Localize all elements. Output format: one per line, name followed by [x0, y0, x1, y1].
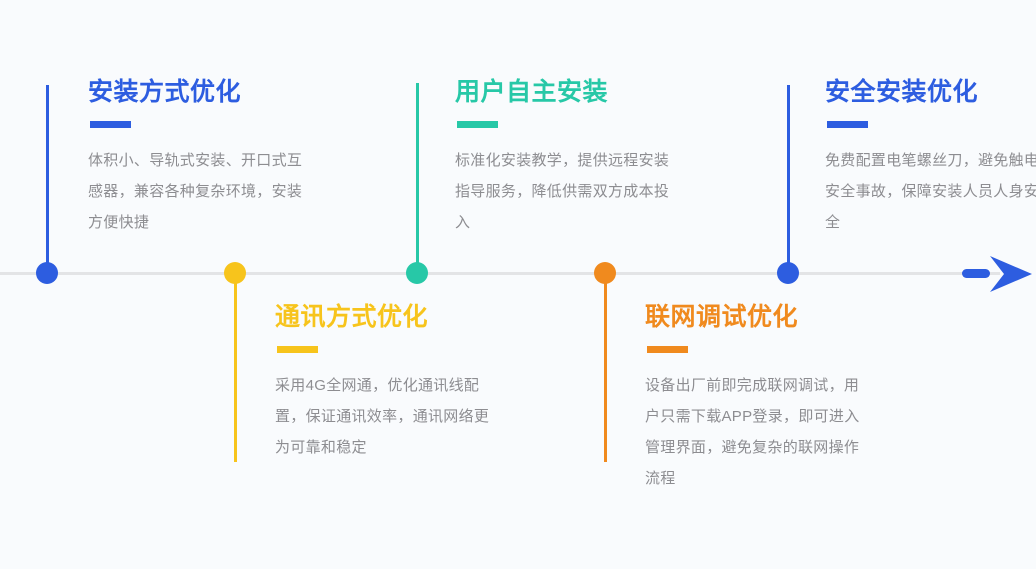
- timeline-stem-5: [787, 85, 790, 273]
- card-body-5: 免费配置电笔螺丝刀，避免触电安全事故，保障安装人员人身安全: [825, 145, 1036, 238]
- card-title-2: 通讯方式优化: [275, 303, 490, 332]
- timeline-marker-2[interactable]: [224, 262, 246, 284]
- card-body-3: 标准化安装教学，提供远程安装指导服务，降低供需双方成本投入: [455, 145, 670, 238]
- timeline-axis: [0, 272, 1000, 275]
- timeline-card-5: 安全安装优化 免费配置电笔螺丝刀，避免触电安全事故，保障安装人员人身安全: [825, 78, 1036, 238]
- timeline-card-2: 通讯方式优化 采用4G全网通，优化通讯线配置，保证通讯效率，通讯网络更为可靠和稳…: [275, 303, 490, 463]
- timeline-stem-4: [604, 272, 607, 462]
- card-body-1: 体积小、导轨式安装、开口式互感器，兼容各种复杂环境，安装方便快捷: [88, 145, 303, 238]
- card-body-2: 采用4G全网通，优化通讯线配置，保证通讯效率，通讯网络更为可靠和稳定: [275, 370, 490, 463]
- timeline-marker-3[interactable]: [406, 262, 428, 284]
- card-title-3: 用户自主安装: [455, 78, 670, 107]
- card-title-1: 安装方式优化: [88, 78, 303, 107]
- card-rule-2: [277, 346, 318, 353]
- arrow-right-icon: [960, 255, 1036, 293]
- card-rule-5: [827, 121, 868, 128]
- card-rule-1: [90, 121, 131, 128]
- card-title-5: 安全安装优化: [825, 78, 1036, 107]
- card-rule-3: [457, 121, 498, 128]
- timeline-marker-4[interactable]: [594, 262, 616, 284]
- card-title-4: 联网调试优化: [645, 303, 860, 332]
- timeline-card-3: 用户自主安装 标准化安装教学，提供远程安装指导服务，降低供需双方成本投入: [455, 78, 670, 238]
- timeline-stem-3: [416, 83, 419, 273]
- timeline-card-1: 安装方式优化 体积小、导轨式安装、开口式互感器，兼容各种复杂环境，安装方便快捷: [88, 78, 303, 238]
- timeline-stem-1: [46, 85, 49, 273]
- timeline-marker-1[interactable]: [36, 262, 58, 284]
- timeline-stem-2: [234, 272, 237, 462]
- infographic-canvas: 安装方式优化 体积小、导轨式安装、开口式互感器，兼容各种复杂环境，安装方便快捷 …: [0, 0, 1036, 569]
- timeline-marker-5[interactable]: [777, 262, 799, 284]
- card-rule-4: [647, 346, 688, 353]
- card-body-4: 设备出厂前即完成联网调试，用户只需下载APP登录，即可进入管理界面，避免复杂的联…: [645, 370, 860, 494]
- timeline-card-4: 联网调试优化 设备出厂前即完成联网调试，用户只需下载APP登录，即可进入管理界面…: [645, 303, 860, 494]
